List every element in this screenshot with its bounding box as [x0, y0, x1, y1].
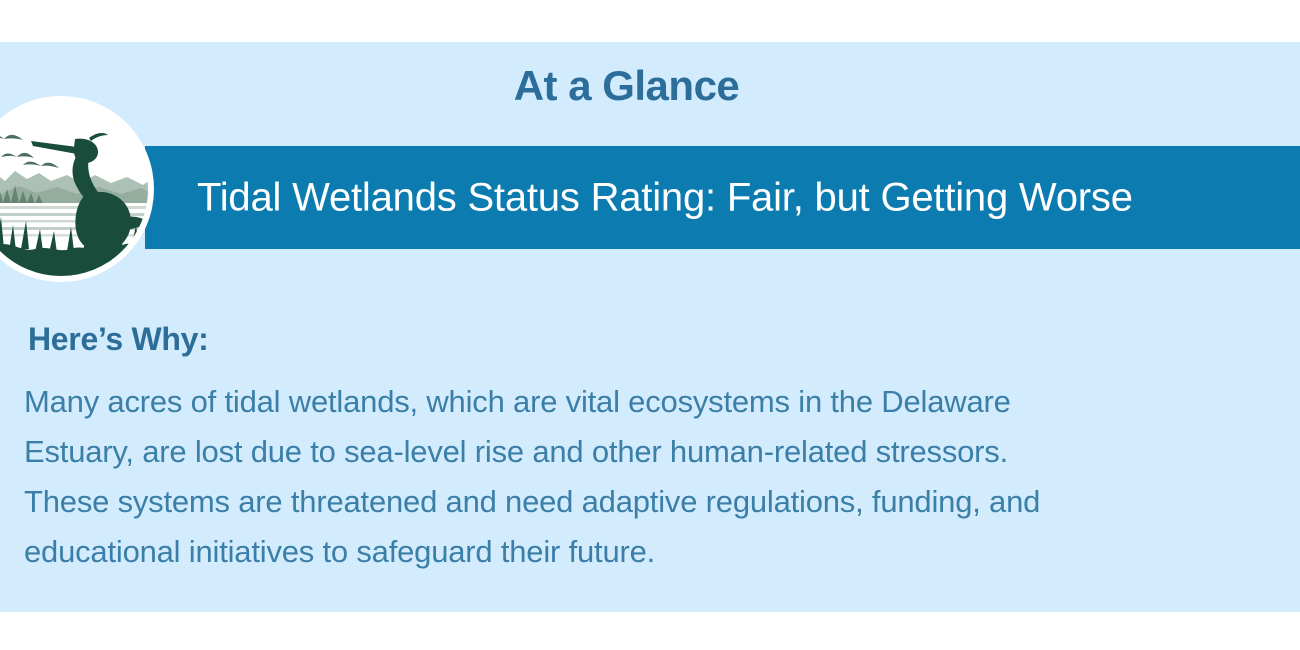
- status-banner: Tidal Wetlands Status Rating: Fair, but …: [145, 146, 1300, 249]
- page-title: At a Glance: [0, 62, 1253, 110]
- at-a-glance-card: At a Glance Tidal Wetlands Status Rating…: [0, 0, 1300, 650]
- paragraph-line: educational initiatives to safeguard the…: [24, 527, 1274, 577]
- section-heading: Here’s Why:: [28, 321, 208, 358]
- paragraph-line: Many acres of tidal wetlands, which are …: [24, 377, 1274, 427]
- body-paragraph: Many acres of tidal wetlands, which are …: [24, 377, 1274, 577]
- paragraph-line: Estuary, are lost due to sea-level rise …: [24, 427, 1274, 477]
- status-banner-label: Tidal Wetlands Status Rating: Fair, but …: [197, 175, 1133, 220]
- paragraph-line: These systems are threatened and need ad…: [24, 477, 1274, 527]
